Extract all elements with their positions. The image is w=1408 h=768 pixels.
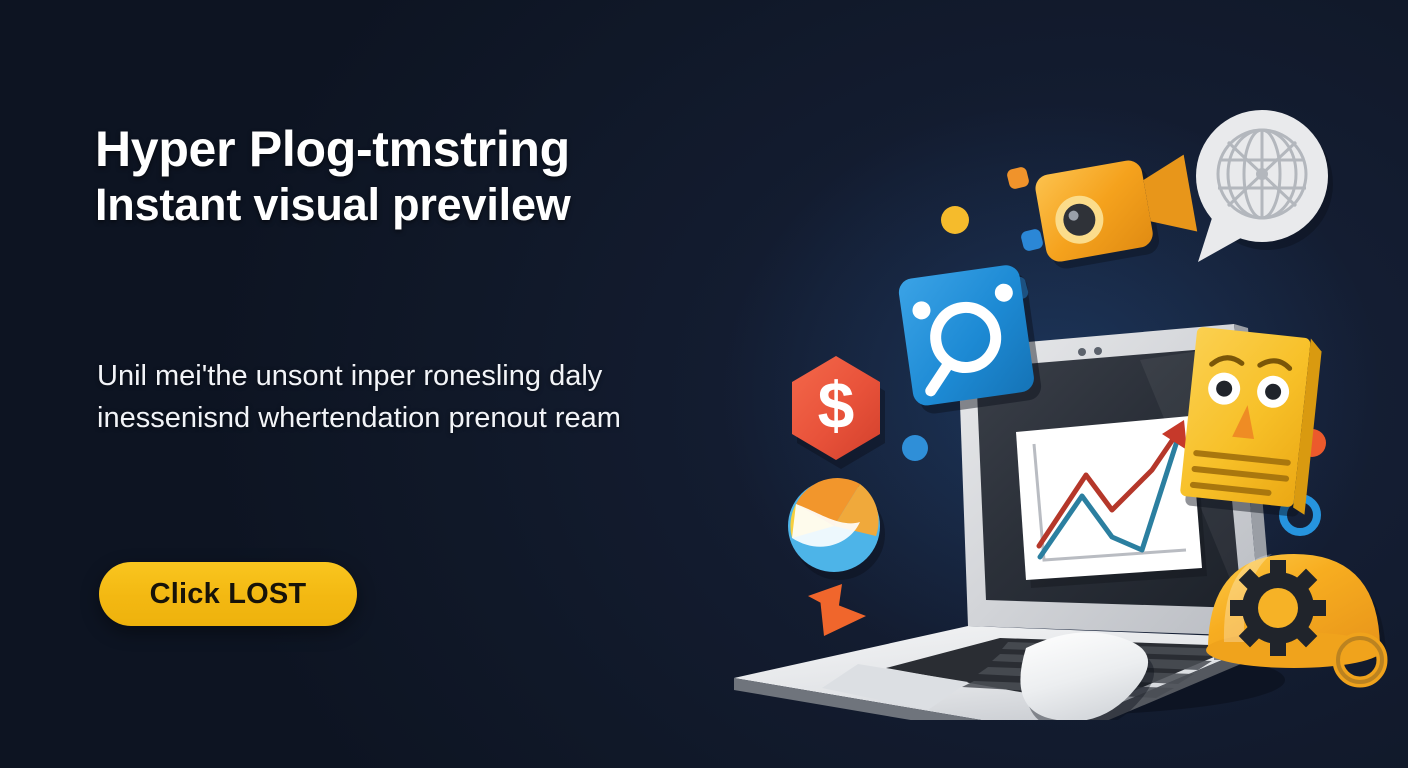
globe-speech-bubble-icon	[1196, 107, 1390, 263]
promo-banner: Hyper Plog-tmstring Instant visual previ…	[0, 0, 1408, 768]
webcam-dot	[1078, 348, 1086, 356]
search-app-icon	[897, 263, 1043, 416]
growth-chart-card	[1016, 416, 1207, 588]
headline-line-1: Hyper Plog-tmstring	[95, 120, 715, 179]
hero-subcopy: Unil mei'the unsont inper ronesling daly…	[97, 355, 687, 439]
yellow-dot-icon	[941, 206, 969, 234]
document-face-icon	[1179, 327, 1323, 518]
headline-line-2: Instant visual previlew	[95, 179, 715, 232]
page-title: Hyper Plog-tmstring Instant visual previ…	[95, 120, 715, 231]
webcam-dot	[1094, 347, 1102, 355]
blue-dot-icon	[902, 435, 928, 461]
svg-text:$: $	[818, 368, 855, 442]
hero-illustration: $	[700, 60, 1408, 720]
gear-center	[1258, 588, 1298, 628]
hero-text-column: Hyper Plog-tmstring Instant visual previ…	[95, 120, 715, 231]
cta-button[interactable]: Click LOST	[99, 562, 357, 626]
globe-center-dot	[1256, 168, 1268, 180]
